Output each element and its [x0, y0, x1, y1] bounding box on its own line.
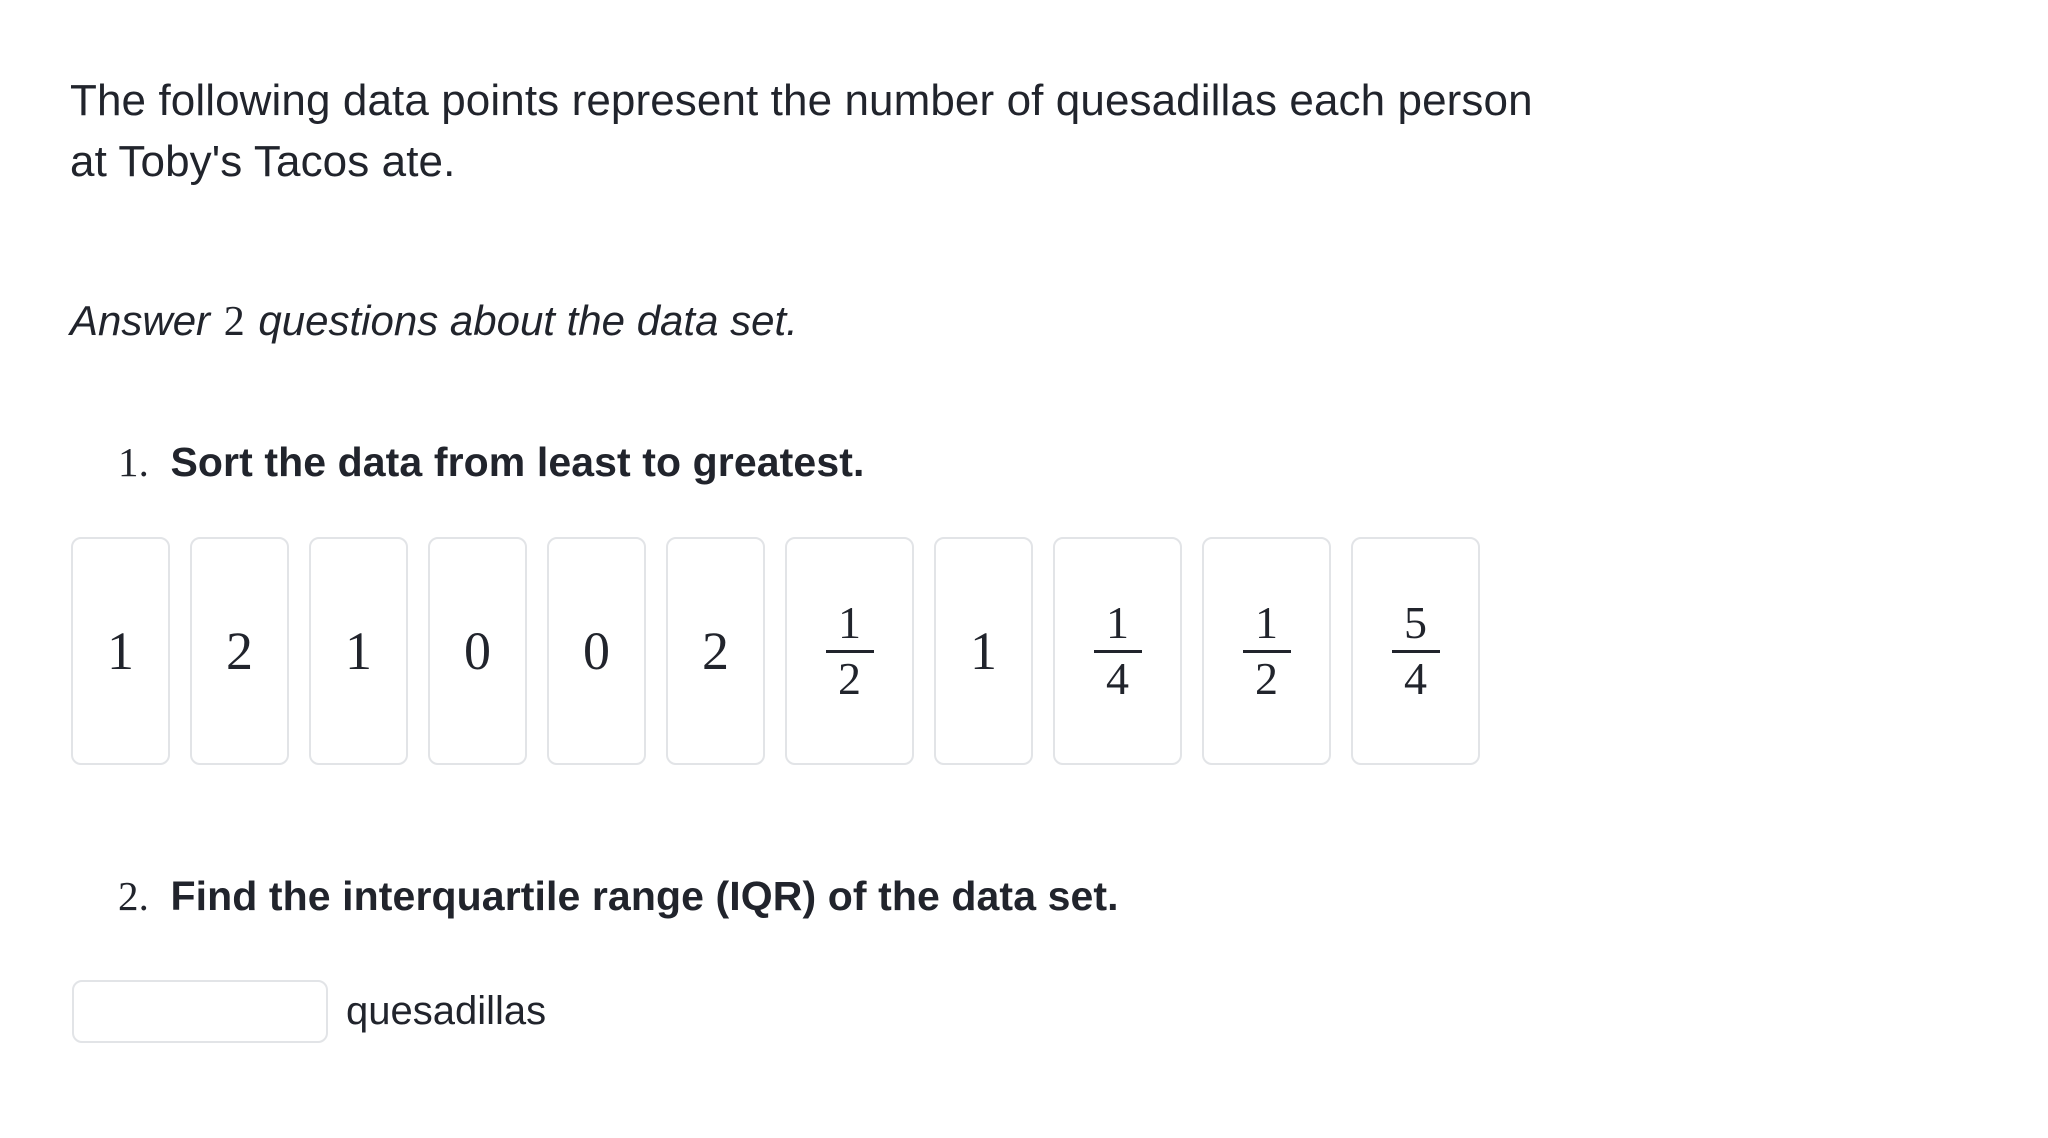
card-value: 1 [107, 624, 134, 678]
instruction-line: Answer 2 questions about the data set. [70, 297, 798, 346]
prompt-line-1: The following data points represent the … [70, 76, 1533, 125]
fraction-numerator: 1 [1100, 600, 1135, 650]
answer-row: quesadillas [72, 980, 546, 1043]
question-1-number: 1. [118, 439, 159, 485]
iqr-answer-input[interactable] [72, 980, 328, 1043]
data-card[interactable]: 54 [1351, 537, 1480, 765]
data-card[interactable]: 12 [785, 537, 914, 765]
data-card[interactable]: 1 [309, 537, 408, 765]
data-card[interactable]: 12 [1202, 537, 1331, 765]
fraction-value: 12 [826, 600, 874, 703]
instruction-question-count: 2 [222, 299, 247, 345]
exercise-page: The following data points represent the … [0, 0, 2048, 1138]
fraction-denominator: 4 [1398, 653, 1433, 703]
data-card[interactable]: 2 [666, 537, 765, 765]
card-value: 2 [702, 624, 729, 678]
data-card[interactable]: 1 [71, 537, 170, 765]
fraction-numerator: 1 [1249, 600, 1284, 650]
card-value: 0 [583, 624, 610, 678]
fraction-value: 54 [1392, 600, 1440, 703]
question-2-text: Find the interquartile range (IQR) of th… [170, 873, 1118, 919]
question-2-heading: 2. Find the interquartile range (IQR) of… [118, 872, 1119, 920]
fraction-denominator: 2 [1249, 653, 1284, 703]
question-1-heading: 1. Sort the data from least to greatest. [118, 438, 864, 486]
fraction-value: 12 [1243, 600, 1291, 703]
instruction-before: Answer [70, 297, 210, 344]
fraction-value: 14 [1094, 600, 1142, 703]
card-value: 1 [345, 624, 372, 678]
card-value: 1 [970, 624, 997, 678]
answer-unit-label: quesadillas [346, 989, 546, 1034]
card-value: 0 [464, 624, 491, 678]
data-card[interactable]: 2 [190, 537, 289, 765]
data-card[interactable]: 14 [1053, 537, 1182, 765]
data-card[interactable]: 0 [547, 537, 646, 765]
fraction-numerator: 1 [832, 600, 867, 650]
card-value: 2 [226, 624, 253, 678]
question-2-number: 2. [118, 873, 159, 919]
fraction-numerator: 5 [1398, 600, 1433, 650]
data-card[interactable]: 1 [934, 537, 1033, 765]
fraction-denominator: 4 [1100, 653, 1135, 703]
data-card-row: 121002121141254 [71, 537, 1480, 765]
data-card[interactable]: 0 [428, 537, 527, 765]
question-1-text: Sort the data from least to greatest. [170, 439, 864, 485]
instruction-after: questions about the data set. [258, 297, 797, 344]
fraction-denominator: 2 [832, 653, 867, 703]
prompt-line-2: at Toby's Tacos ate. [70, 132, 1970, 193]
prompt-paragraph: The following data points represent the … [70, 71, 1970, 192]
